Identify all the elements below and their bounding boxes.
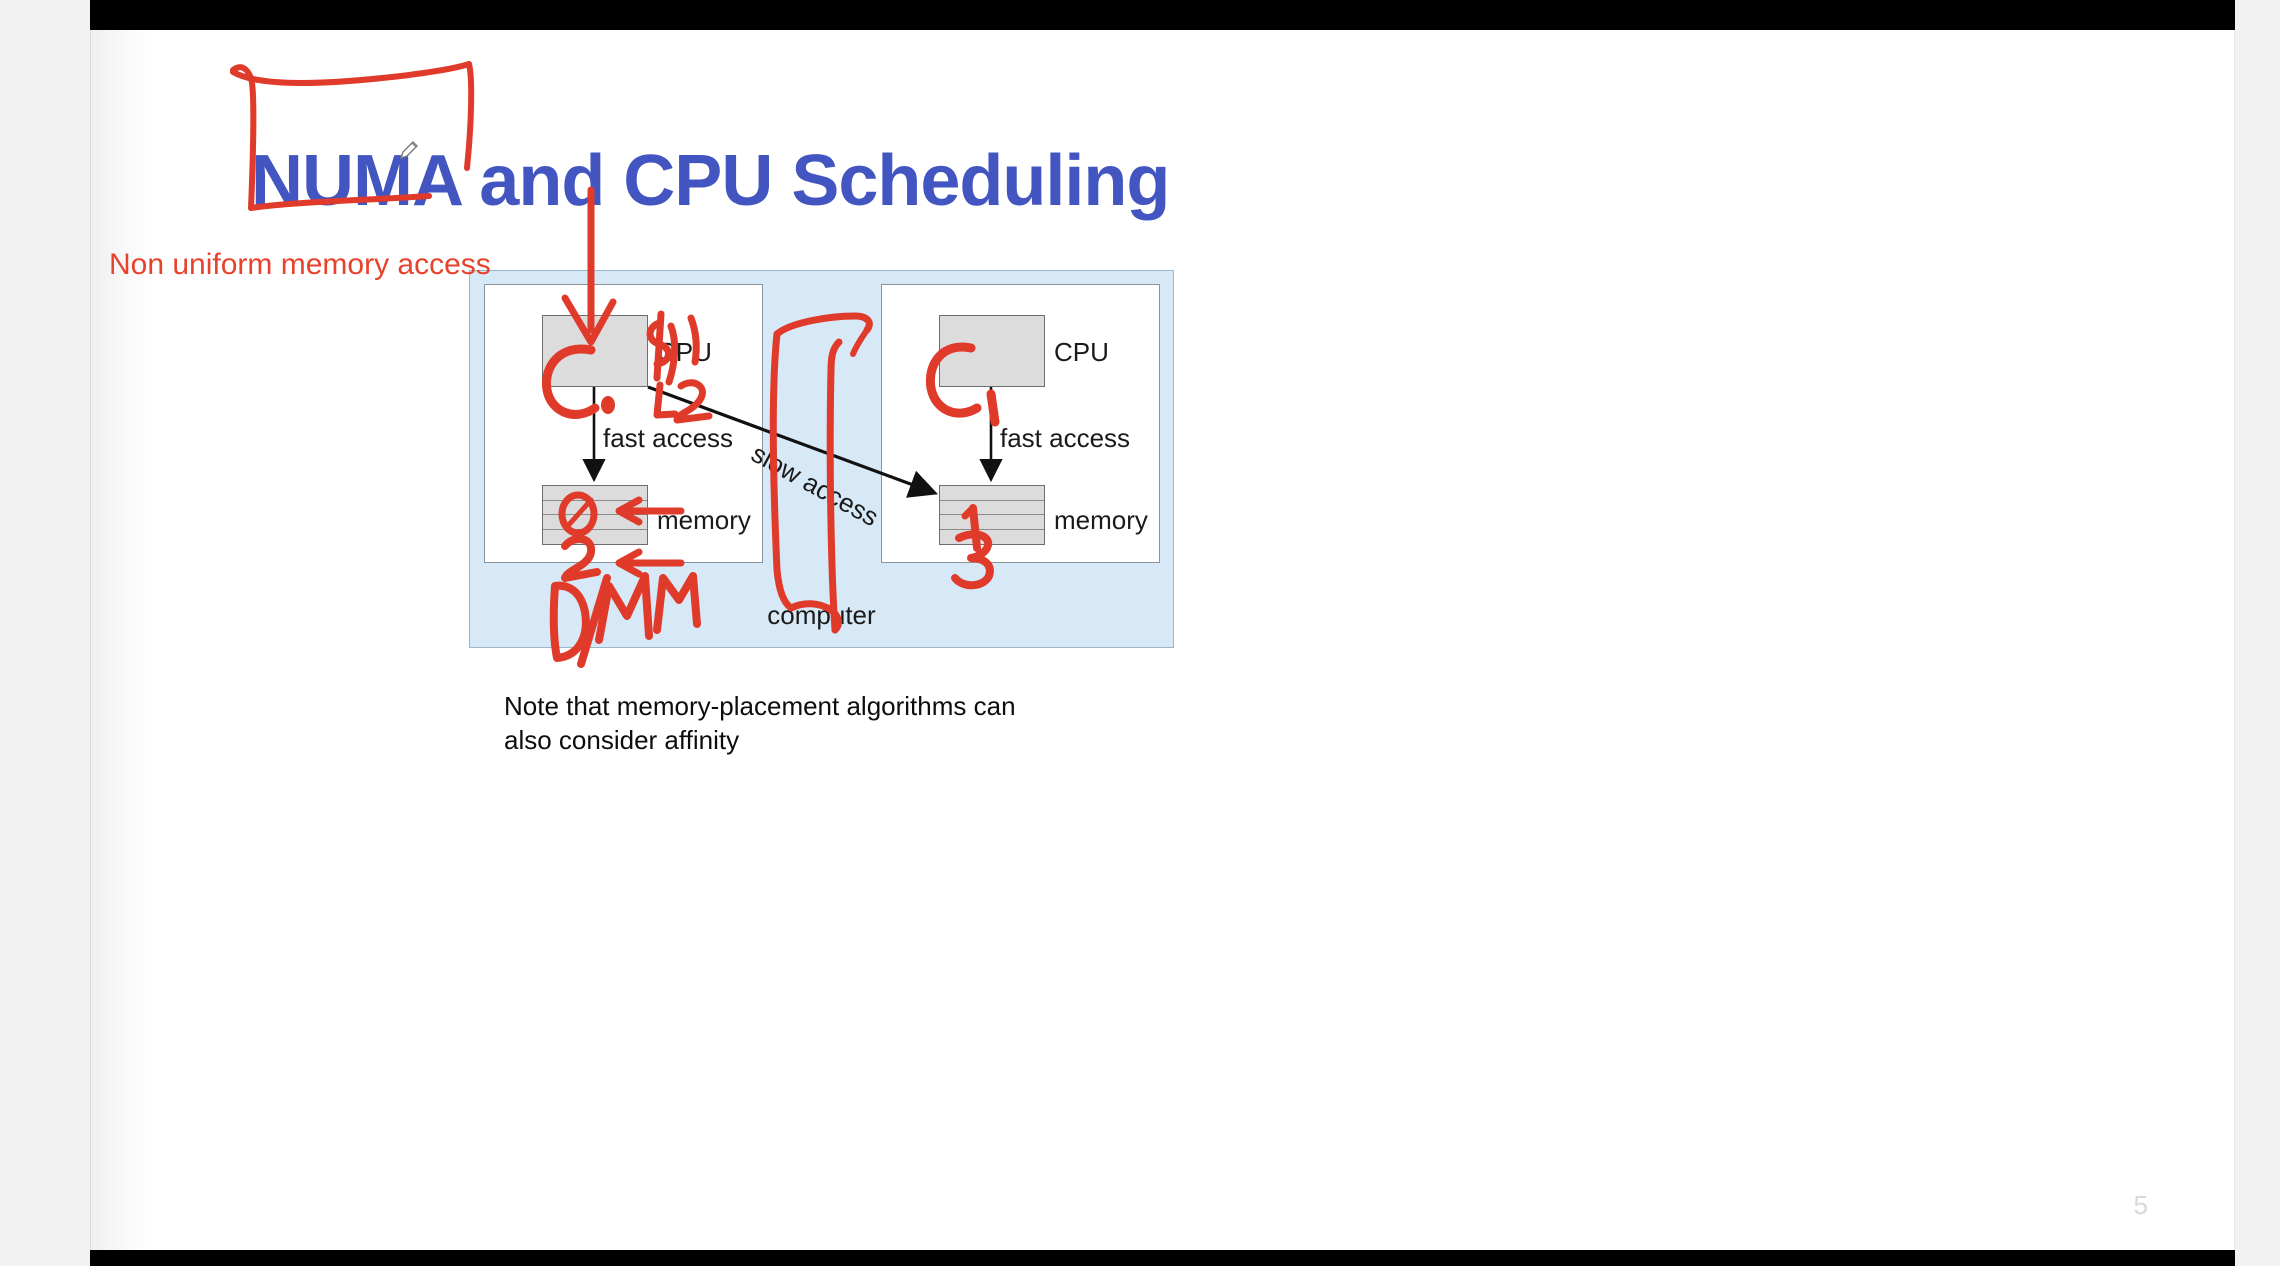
letterbox-bottom-bar <box>90 1250 2235 1266</box>
pen-cursor-icon <box>397 138 421 162</box>
numa-definition-note: Non uniform memory access <box>109 248 491 282</box>
diagram-arrows <box>469 270 1174 648</box>
numa-diagram: CPU fast access memory CPU fast access <box>469 270 1174 648</box>
screenshot-root: NUMA and CPU Scheduling Non uniform memo… <box>0 0 2280 1266</box>
affinity-note: Note that memory-placement algorithms ca… <box>504 690 1064 758</box>
slide-canvas: NUMA and CPU Scheduling Non uniform memo… <box>90 30 2235 1250</box>
letterbox-top-bar <box>90 0 2235 30</box>
page-number: 5 <box>2134 1190 2148 1221</box>
page-title: NUMA and CPU Scheduling <box>251 140 1169 222</box>
